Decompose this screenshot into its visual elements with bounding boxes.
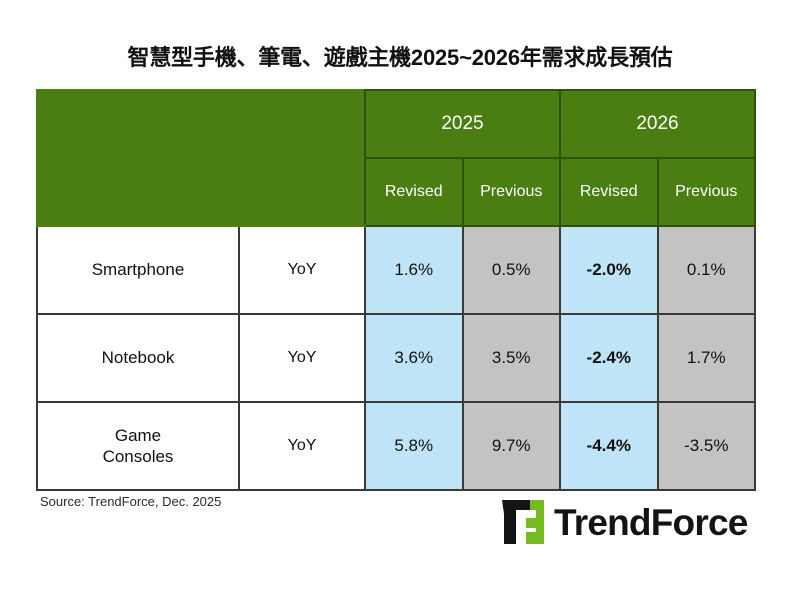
notebook-2025-previous: 3.5% — [463, 314, 561, 402]
game-consoles-2026-revised: -4.4% — [560, 402, 658, 490]
smartphone-2025-revised: 1.6% — [365, 226, 463, 314]
trendforce-logo: TrendForce — [500, 498, 748, 546]
header-2026-revised: Revised — [560, 158, 658, 226]
notebook-2026-revised: -2.4% — [560, 314, 658, 402]
row-metric-notebook: YoY — [239, 314, 365, 402]
notebook-2026-previous: 1.7% — [658, 314, 756, 402]
header-year-2025: 2025 — [365, 90, 560, 158]
notebook-2025-revised: 3.6% — [365, 314, 463, 402]
row-label-line-1: Game — [38, 425, 238, 446]
header-2025-previous: Previous — [463, 158, 561, 226]
header-corner-blank — [37, 90, 365, 226]
slide-canvas: 智慧型手機、筆電、遊戲主機2025~2026年需求成長預估 2025 2026 … — [0, 0, 800, 600]
game-consoles-2026-previous: -3.5% — [658, 402, 756, 490]
row-metric-game-consoles: YoY — [239, 402, 365, 490]
row-label-smartphone: Smartphone — [37, 226, 239, 314]
forecast-table: 2025 2026 Revised Previous Revised Previ… — [36, 89, 754, 491]
table-header-row-years: 2025 2026 — [37, 90, 755, 158]
table-row: Smartphone YoY 1.6% 0.5% -2.0% 0.1% — [37, 226, 755, 314]
game-consoles-2025-revised: 5.8% — [365, 402, 463, 490]
table-header: 2025 2026 Revised Previous Revised Previ… — [37, 90, 755, 226]
header-year-2026: 2026 — [560, 90, 755, 158]
table-row: Game Consoles YoY 5.8% 9.7% -4.4% -3.5% — [37, 402, 755, 490]
table: 2025 2026 Revised Previous Revised Previ… — [36, 89, 756, 491]
row-metric-smartphone: YoY — [239, 226, 365, 314]
trendforce-logo-text: TrendForce — [554, 504, 748, 541]
row-label-notebook: Notebook — [37, 314, 239, 402]
row-label-line-2: Consoles — [38, 446, 238, 467]
smartphone-2026-previous: 0.1% — [658, 226, 756, 314]
row-label-game-consoles: Game Consoles — [37, 402, 239, 490]
table-row: Notebook YoY 3.6% 3.5% -2.4% 1.7% — [37, 314, 755, 402]
header-2026-previous: Previous — [658, 158, 756, 226]
trendforce-logo-mark — [500, 498, 546, 546]
table-body: Smartphone YoY 1.6% 0.5% -2.0% 0.1% Note… — [37, 226, 755, 490]
game-consoles-2025-previous: 9.7% — [463, 402, 561, 490]
smartphone-2026-revised: -2.0% — [560, 226, 658, 314]
page-title: 智慧型手機、筆電、遊戲主機2025~2026年需求成長預估 — [0, 40, 800, 72]
header-2025-revised: Revised — [365, 158, 463, 226]
source-note: Source: TrendForce, Dec. 2025 — [40, 494, 221, 509]
smartphone-2025-previous: 0.5% — [463, 226, 561, 314]
